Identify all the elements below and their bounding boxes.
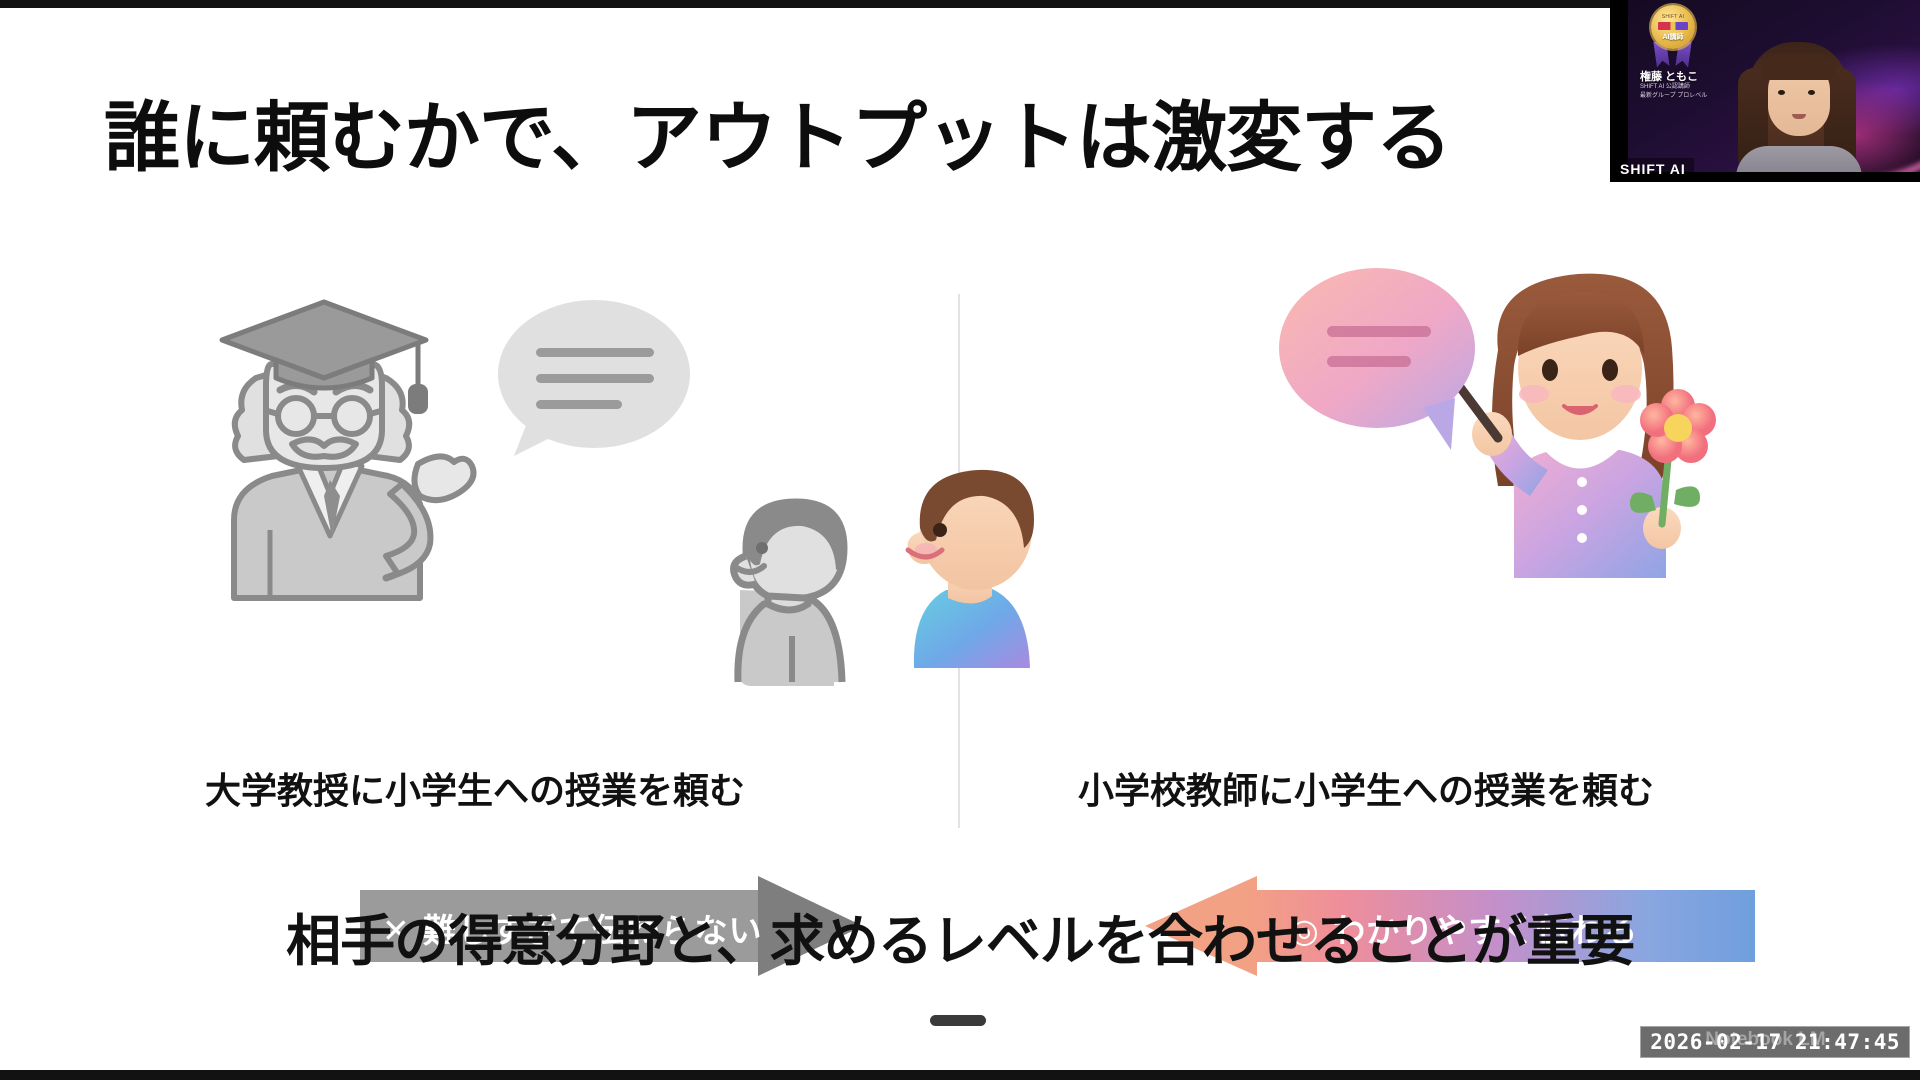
bottom-band bbox=[0, 1070, 1920, 1080]
participant-video-figure bbox=[1732, 42, 1864, 172]
participant-role-line2: 最新グループ プロレベル bbox=[1640, 92, 1707, 101]
speech-bubble-gray-icon bbox=[480, 288, 700, 478]
bottom-dash-decoration bbox=[930, 1015, 986, 1026]
badge-top-text: SHIFT AI bbox=[1651, 14, 1695, 20]
slide-takeaway: 相手の得意分野と、求めるレベルを合わせることが重要 bbox=[286, 896, 1634, 976]
eye-left bbox=[1778, 90, 1785, 95]
fringe bbox=[1762, 54, 1836, 80]
child-color-icon bbox=[890, 458, 1050, 668]
child-grayscale-icon bbox=[710, 486, 870, 686]
left-panel: ✕ 難しすぎて伝わらない bbox=[150, 278, 940, 838]
badge-medal-icon: SHIFT AI AI講師 bbox=[1651, 5, 1695, 49]
webcam-video: SHIFT AI AI講師 権藤 ともこ SHIFT AI 公認講師 最新 bbox=[1628, 0, 1920, 172]
speech-bubble-pink-icon bbox=[1265, 258, 1495, 458]
badge-flag-icon bbox=[1658, 22, 1688, 30]
webcam-overlay[interactable]: SHIFT AI AI講師 権藤 ともこ SHIFT AI 公認講師 最新 bbox=[1610, 0, 1920, 182]
slide-title: 誰に頼むかで、アウトプットは激変する bbox=[104, 100, 1451, 176]
right-panel: ◎ わかりやすく伝わる bbox=[1000, 278, 1790, 838]
timestamp-badge: 2026-02-17 21:47:45 Notebook LM bbox=[1640, 1026, 1910, 1058]
participant-role-line1: SHIFT AI 公認講師 bbox=[1640, 83, 1707, 92]
badge-label: AI講師 bbox=[1651, 32, 1695, 42]
certification-badge-icon: SHIFT AI AI講師 bbox=[1644, 5, 1702, 69]
screen-capture: 誰に頼むかで、アウトプットは激変する bbox=[0, 0, 1920, 1080]
torso bbox=[1736, 146, 1862, 172]
participant-name: 権藤 ともこ bbox=[1640, 68, 1698, 84]
left-panel-caption: 大学教授に小学生への授業を頼む bbox=[205, 762, 745, 814]
right-panel-caption: 小学校教師に小学生への授業を頼む bbox=[1078, 762, 1654, 814]
participant-role: SHIFT AI 公認講師 最新グループ プロレベル bbox=[1640, 83, 1707, 101]
eye-right bbox=[1808, 90, 1815, 95]
webcam-name-label: SHIFT AI bbox=[1610, 158, 1694, 182]
timestamp-value: 2026-02-17 21:47:45 bbox=[1650, 1030, 1900, 1054]
